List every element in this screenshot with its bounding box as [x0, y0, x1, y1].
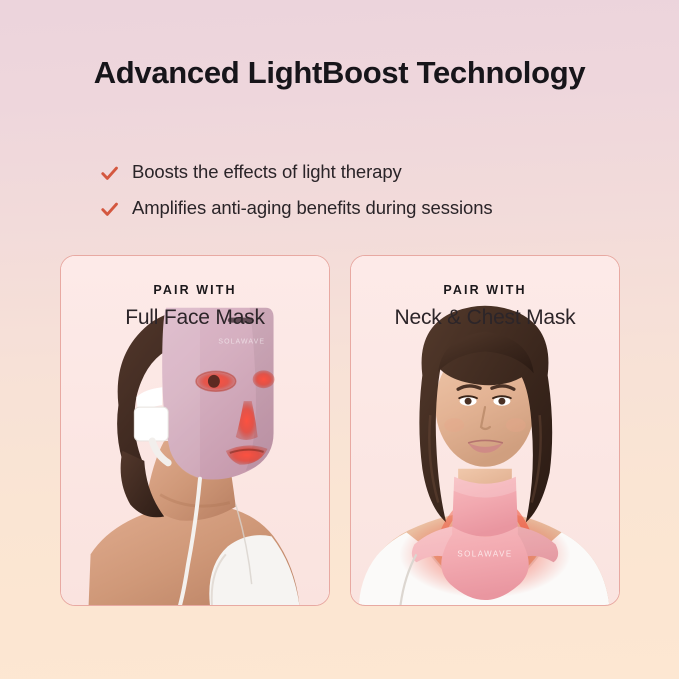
card-eyebrow: PAIR WITH — [61, 283, 329, 297]
card-header: PAIR WITH Neck & Chest Mask — [351, 256, 619, 330]
benefits-list: Boosts the effects of light therapy Ampl… — [0, 160, 679, 232]
svg-text:SOLAWAVE: SOLAWAVE — [218, 338, 265, 345]
product-card-list: SOLAWAVE — [60, 255, 620, 606]
check-icon — [100, 164, 119, 183]
svg-text:SOLAWAVE: SOLAWAVE — [457, 549, 512, 558]
product-card-neck-chest-mask[interactable]: SOLAWAVE PAIR WITH Neck & Chest Mask Wom… — [350, 255, 620, 606]
benefit-text: Amplifies anti-aging benefits during ses… — [132, 196, 493, 219]
list-item: Amplifies anti-aging benefits during ses… — [100, 196, 679, 219]
promo-panel: Advanced LightBoost Technology Boosts th… — [0, 0, 679, 679]
card-title: Neck & Chest Mask — [351, 306, 619, 330]
benefit-text: Boosts the effects of light therapy — [132, 160, 402, 183]
product-card-full-face-mask[interactable]: SOLAWAVE — [60, 255, 330, 606]
card-title: Full Face Mask — [61, 306, 329, 330]
list-item: Boosts the effects of light therapy — [100, 160, 679, 183]
card-eyebrow: PAIR WITH — [351, 283, 619, 297]
check-icon — [100, 200, 119, 219]
page-title: Advanced LightBoost Technology — [0, 52, 679, 93]
card-header: PAIR WITH Full Face Mask — [61, 256, 329, 330]
